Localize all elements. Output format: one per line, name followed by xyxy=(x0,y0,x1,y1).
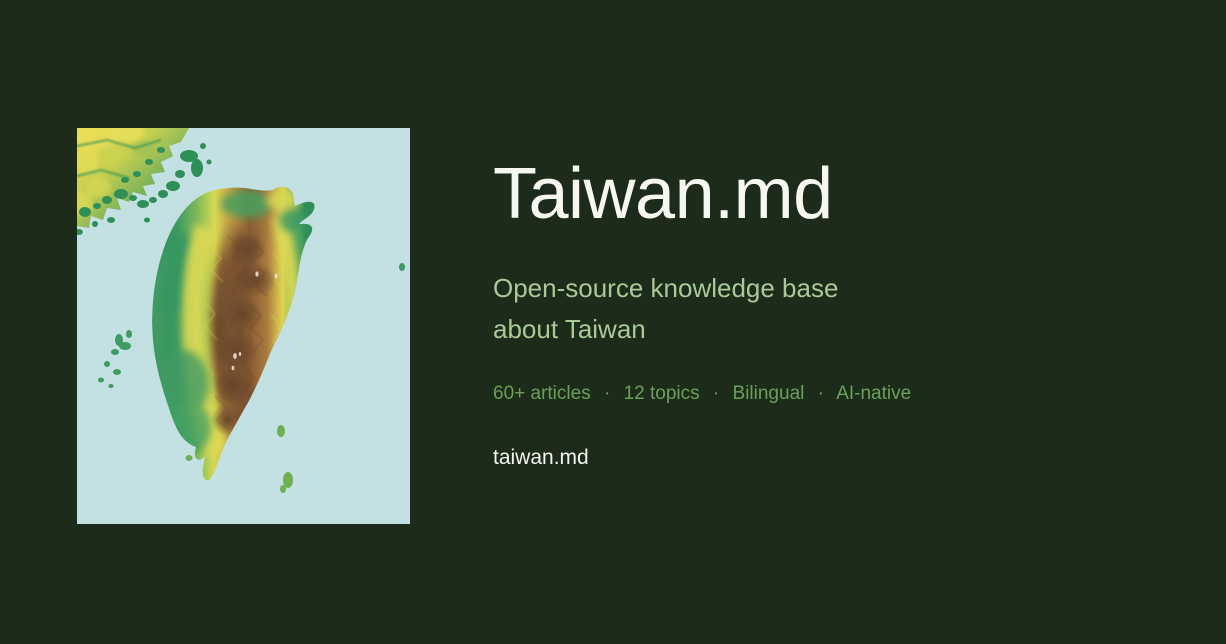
stat-bilingual: Bilingual xyxy=(733,383,805,404)
card-text-column: Taiwan.md Open-source knowledge base abo… xyxy=(493,128,1133,524)
stat-separator-3: · xyxy=(810,381,832,407)
stat-topics: 12 topics xyxy=(624,383,700,404)
stat-ai-native: AI-native xyxy=(836,383,911,404)
page-subtitle-line-1: Open-source knowledge base xyxy=(493,268,838,309)
stat-separator-1: · xyxy=(596,381,618,407)
taiwan-relief-map xyxy=(77,128,410,524)
stats-line: 60+ articles · 12 topics · Bilingual · A… xyxy=(493,381,911,407)
social-card: Taiwan.md Open-source knowledge base abo… xyxy=(0,0,1226,644)
page-subtitle: Open-source knowledge base about Taiwan xyxy=(493,268,838,350)
map-offshore-islet-ne xyxy=(399,263,405,271)
stat-articles: 60+ articles xyxy=(493,383,591,404)
stat-separator-2: · xyxy=(705,381,727,407)
site-url-link[interactable]: taiwan.md xyxy=(493,444,589,472)
taiwan-relief-map-svg xyxy=(77,128,410,524)
page-subtitle-line-2: about Taiwan xyxy=(493,309,838,350)
page-title: Taiwan.md xyxy=(493,152,833,236)
